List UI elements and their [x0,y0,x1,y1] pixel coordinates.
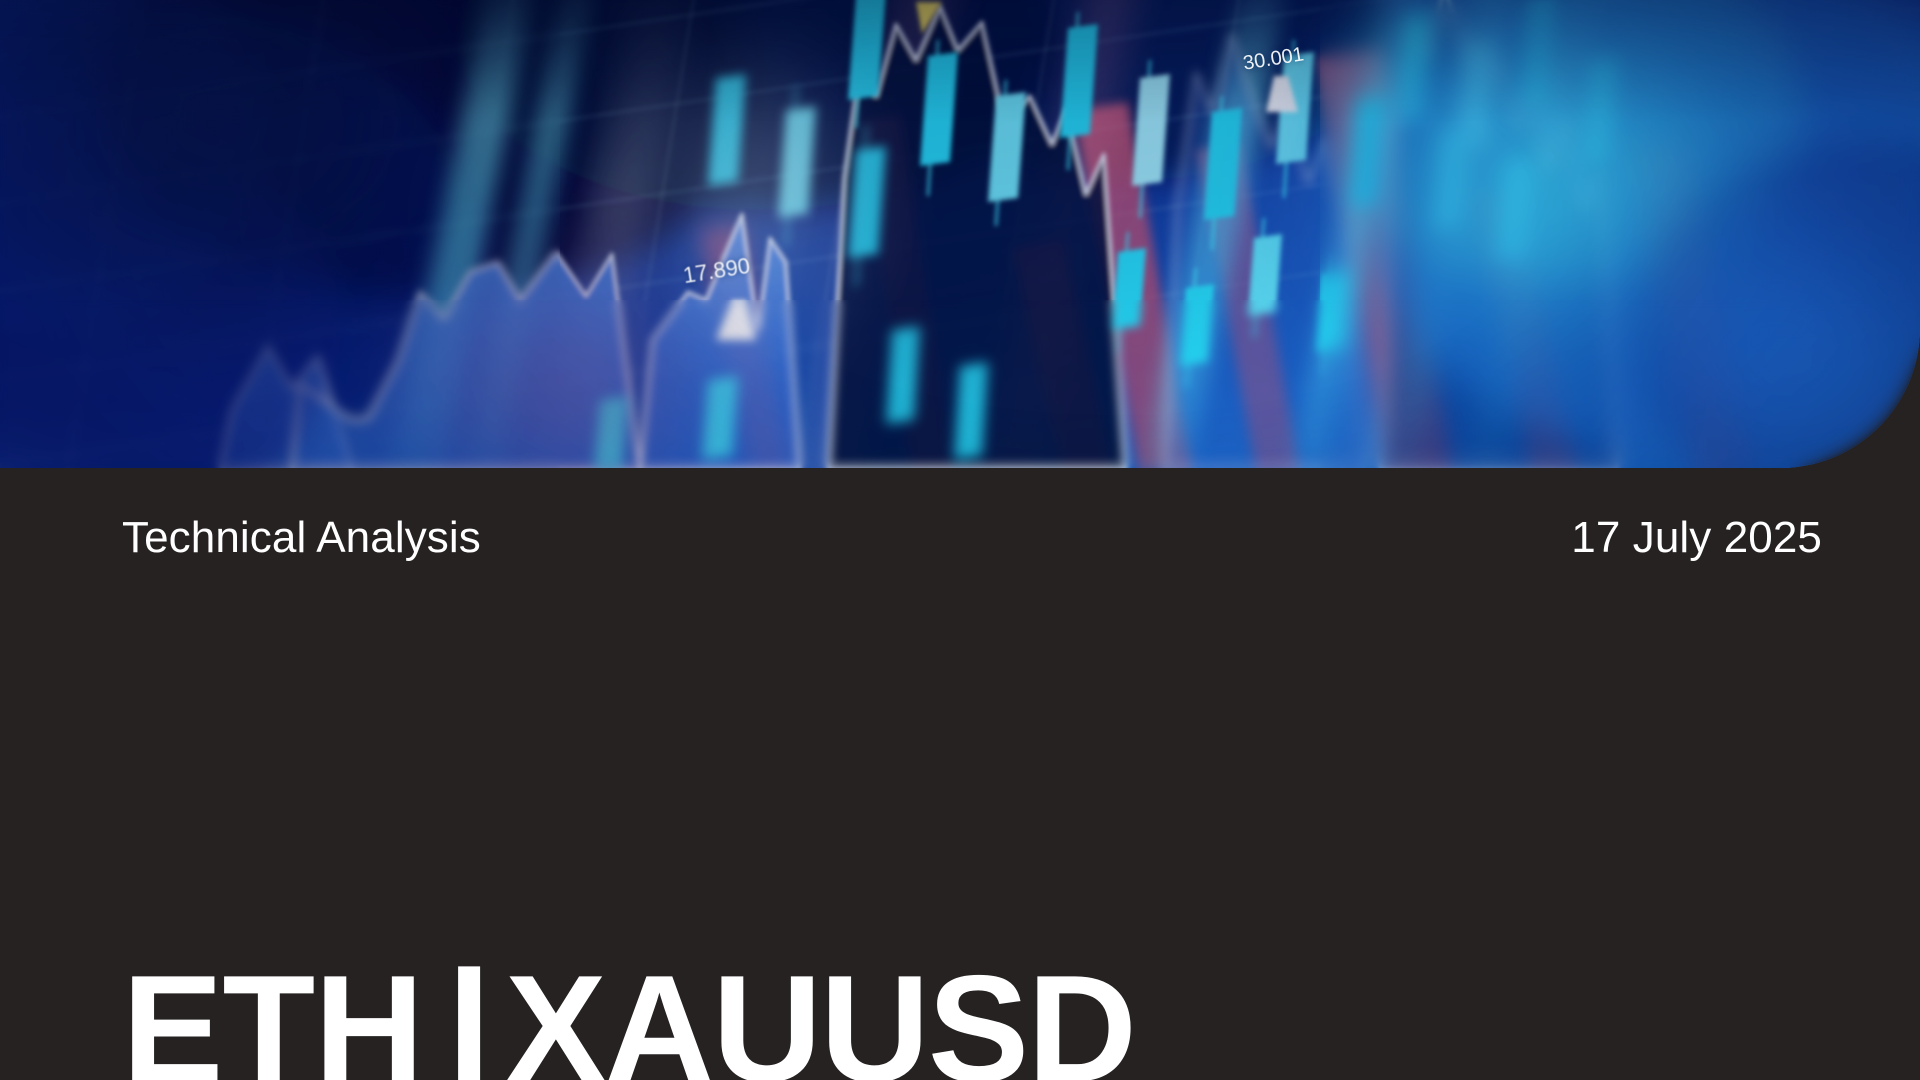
meta-row: Technical Analysis 17 July 2025 [122,516,1822,560]
page-title: ETH | XAUUSD [122,936,1135,1080]
title-separator: | [445,946,491,1080]
depth-blur-bottom [0,300,1920,468]
cover-slide: 30.001 17.890 Technical Analysis 17 July… [0,0,1920,1080]
hero-chart-image: 30.001 17.890 [0,0,1920,468]
kicker-label: Technical Analysis [122,516,481,560]
cover-content: Technical Analysis 17 July 2025 ETH | XA… [0,468,1920,1080]
title-symbol-right: XAUUSD [505,953,1135,1080]
title-symbol-left: ETH [122,953,423,1080]
date-label: 17 July 2025 [1571,516,1822,560]
